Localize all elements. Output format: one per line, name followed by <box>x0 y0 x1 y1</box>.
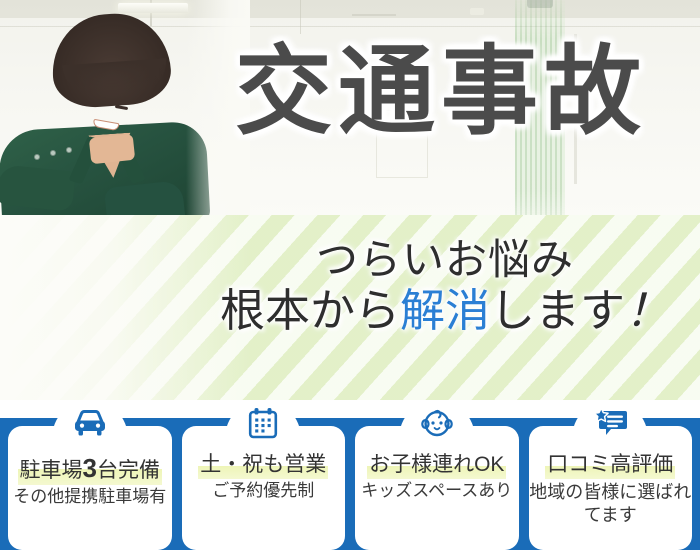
subheadline-exclamation: ！ <box>625 285 670 336</box>
card-main-number: 3 <box>83 453 97 483</box>
card-main-wrap: お子様連れOK <box>355 452 519 479</box>
card-main-wrap: 土・祝も営業 <box>182 452 346 479</box>
subheadline-accent-text: 解消 <box>400 285 490 336</box>
feature-card-parking[interactable]: 駐車場3台完備 その他提携駐車場有 <box>8 400 172 550</box>
feature-card-kids[interactable]: お子様連れOK キッズスペースあり <box>355 400 519 550</box>
ceiling-seam <box>352 14 396 16</box>
ceiling-light-icon <box>470 8 484 15</box>
card-main-wrap: 口コミ高評価 <box>529 452 693 479</box>
card-sub-label: ご予約優先制 <box>182 481 346 502</box>
card-sub-label: 地域の皆様に選ばれてます <box>529 481 693 526</box>
card-sub-label: キッズスペースあり <box>355 481 519 502</box>
feature-card-hours[interactable]: 土・祝も営業 ご予約優先制 <box>182 400 346 550</box>
feature-card-reviews[interactable]: 口コミ高評価 地域の皆様に選ばれてます <box>529 400 693 550</box>
snap-button <box>34 154 40 160</box>
card-main-wrap: 駐車場3台完備 <box>8 452 172 485</box>
car-icon <box>70 405 110 441</box>
card-text: 駐車場3台完備 その他提携駐車場有 <box>8 452 172 508</box>
card-main-suffix: 台完備 <box>97 459 160 482</box>
card-text: 口コミ高評価 地域の皆様に選ばれてます <box>529 452 693 526</box>
card-sub-label: その他提携駐車場有 <box>8 487 172 508</box>
clinic-banner: 交通事故 つらいお悩み 根本から解消します！ <box>0 0 700 550</box>
card-text: お子様連れOK キッズスペースあり <box>355 452 519 502</box>
calendar-icon <box>243 405 283 441</box>
subheadline-text-before: 根本から <box>220 285 400 336</box>
ceiling-seam <box>300 0 301 34</box>
page-title: 交通事故 <box>196 33 686 149</box>
card-main-label: 口コミ高評価 <box>545 452 675 479</box>
therapist-hair <box>49 10 173 110</box>
baby-face-icon <box>417 405 457 441</box>
feature-card-list: 駐車場3台完備 その他提携駐車場有 <box>0 400 700 550</box>
therapist-neck <box>89 134 135 164</box>
card-main-label: お子様連れOK <box>367 452 506 479</box>
scrub-sleeve-left <box>0 164 76 212</box>
card-main-prefix: 駐車場 <box>20 459 83 482</box>
subheadline-text-after: します <box>490 285 625 336</box>
snap-button <box>50 150 56 156</box>
review-star-speech-icon <box>590 405 630 441</box>
card-text: 土・祝も営業 ご予約優先制 <box>182 452 346 502</box>
subheadline-line-2: 根本から解消します！ <box>200 285 690 337</box>
card-main-label: 駐車場3台完備 <box>18 452 162 485</box>
card-main-label: 土・祝も営業 <box>198 452 328 479</box>
subheadline: つらいお悩み 根本から解消します！ <box>200 236 690 337</box>
snap-button <box>66 147 72 153</box>
subheadline-line-1: つらいお悩み <box>200 236 690 283</box>
